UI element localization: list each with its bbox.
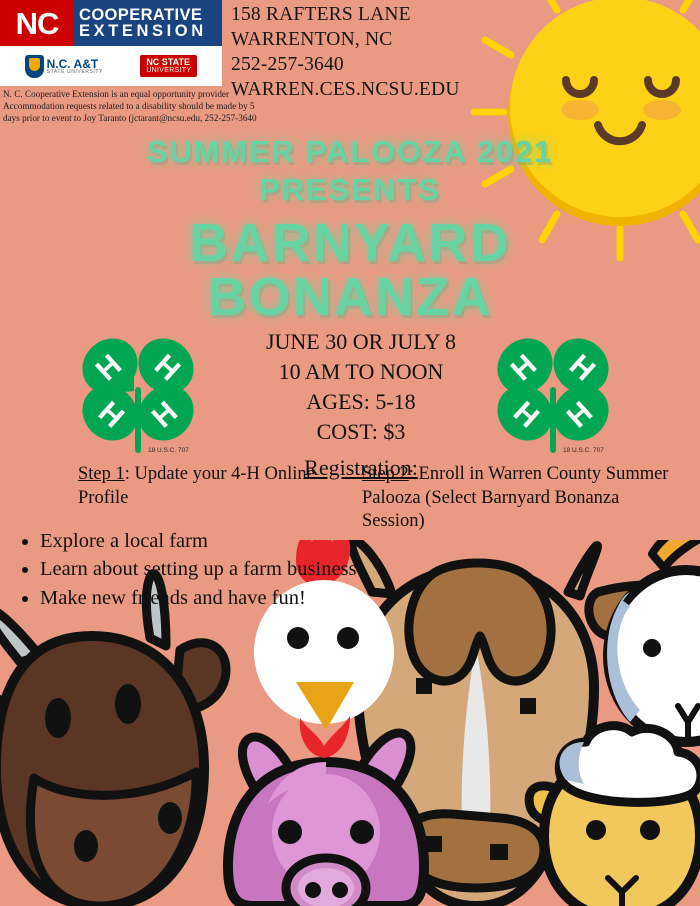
list-item: Make new friends and have fun! [40,585,385,612]
pig-graphic [228,733,424,906]
address-city: WARRENTON, NC [231,27,460,52]
event-date: JUNE 30 OR JULY 8 [230,327,492,357]
address-street: 158 RAFTERS LANE [231,2,460,27]
list-item: Explore a local farm [40,528,385,555]
nc-cooperative-extension-logo: NC COOPERATIVE EXTENSION [0,0,222,46]
title-summer-palooza: SUMMER PALOOZA 2021 [0,136,700,169]
ncat-logo: N.C. A&T STATE UNIVERSITY [25,55,103,78]
cow-graphic [0,574,226,906]
list-item: Learn about setting up a farm business [40,556,385,583]
event-cost: COST: $3 [230,417,492,447]
disclaimer-line-1: N. C. Cooperative Extension is an equal … [3,88,348,100]
ncstate-sub: UNIVERSITY [146,67,191,74]
sun-blush-right [643,100,681,120]
flyer-canvas: NC COOPERATIVE EXTENSION N.C. A&T STATE … [0,0,700,906]
university-logos-bar: N.C. A&T STATE UNIVERSITY NC STATE UNIVE… [0,46,222,86]
activity-bullet-list: Explore a local farm Learn about setting… [18,528,385,613]
goat-graphic [589,540,700,742]
ncat-name: N.C. A&T [47,58,103,70]
cooperative-text: COOPERATIVE [79,7,222,24]
registration-steps: Step 1: Update your 4-H Online Profile S… [0,463,700,534]
event-details-block: JUNE 30 OR JULY 8 10 AM TO NOON AGES: 5-… [230,327,492,483]
disclaimer-line-2: Accommodation requests related to a disa… [3,100,348,112]
ncstate-name: NC STATE [146,58,191,67]
extension-logo-block: NC COOPERATIVE EXTENSION N.C. A&T STATE … [0,0,222,86]
step-2-text: : Enroll in Warren County Summer Palooza… [362,464,668,531]
clover-legal-left: 18 U.S.C. 707 [148,447,189,454]
disclaimer-line-3: days prior to event to Joy Taranto (jcta… [3,112,348,124]
clover-legal-right: 18 U.S.C. 707 [563,447,604,454]
extension-text: EXTENSION [79,23,222,40]
four-h-clover-logo-right: H H H H 18 U.S.C. 707 [485,325,625,465]
step-2-label: Step 2 [362,464,409,484]
title-presents: PRESENTS [0,174,700,207]
accessibility-disclaimer: N. C. Cooperative Extension is an equal … [3,88,348,124]
title-block: SUMMER PALOOZA 2021 PRESENTS BARNYARD BO… [0,136,700,326]
ncat-sub: STATE UNIVERSITY [47,70,103,75]
title-barnyard: BARNYARD [0,215,700,272]
title-bonanza: BONANZA [0,269,700,326]
registration-step-2: Step 2: Enroll in Warren County Summer P… [362,463,700,534]
step-1-label: Step 1 [78,464,125,484]
nc-mark-text: NC [16,8,59,39]
event-time: 10 AM TO NOON [230,357,492,387]
sun-blush-left [561,100,599,120]
event-ages: AGES: 5-18 [230,387,492,417]
address-phone: 252-257-3640 [231,52,460,77]
nc-mark: NC [0,0,74,46]
ncstate-logo: NC STATE UNIVERSITY [140,55,197,78]
registration-step-1: Step 1: Update your 4-H Online Profile [0,463,362,534]
extension-wordmark: COOPERATIVE EXTENSION [74,0,222,46]
ncat-shield-icon [25,55,44,78]
four-h-clover-logo-left: H H H H 18 U.S.C. 707 [70,325,210,465]
